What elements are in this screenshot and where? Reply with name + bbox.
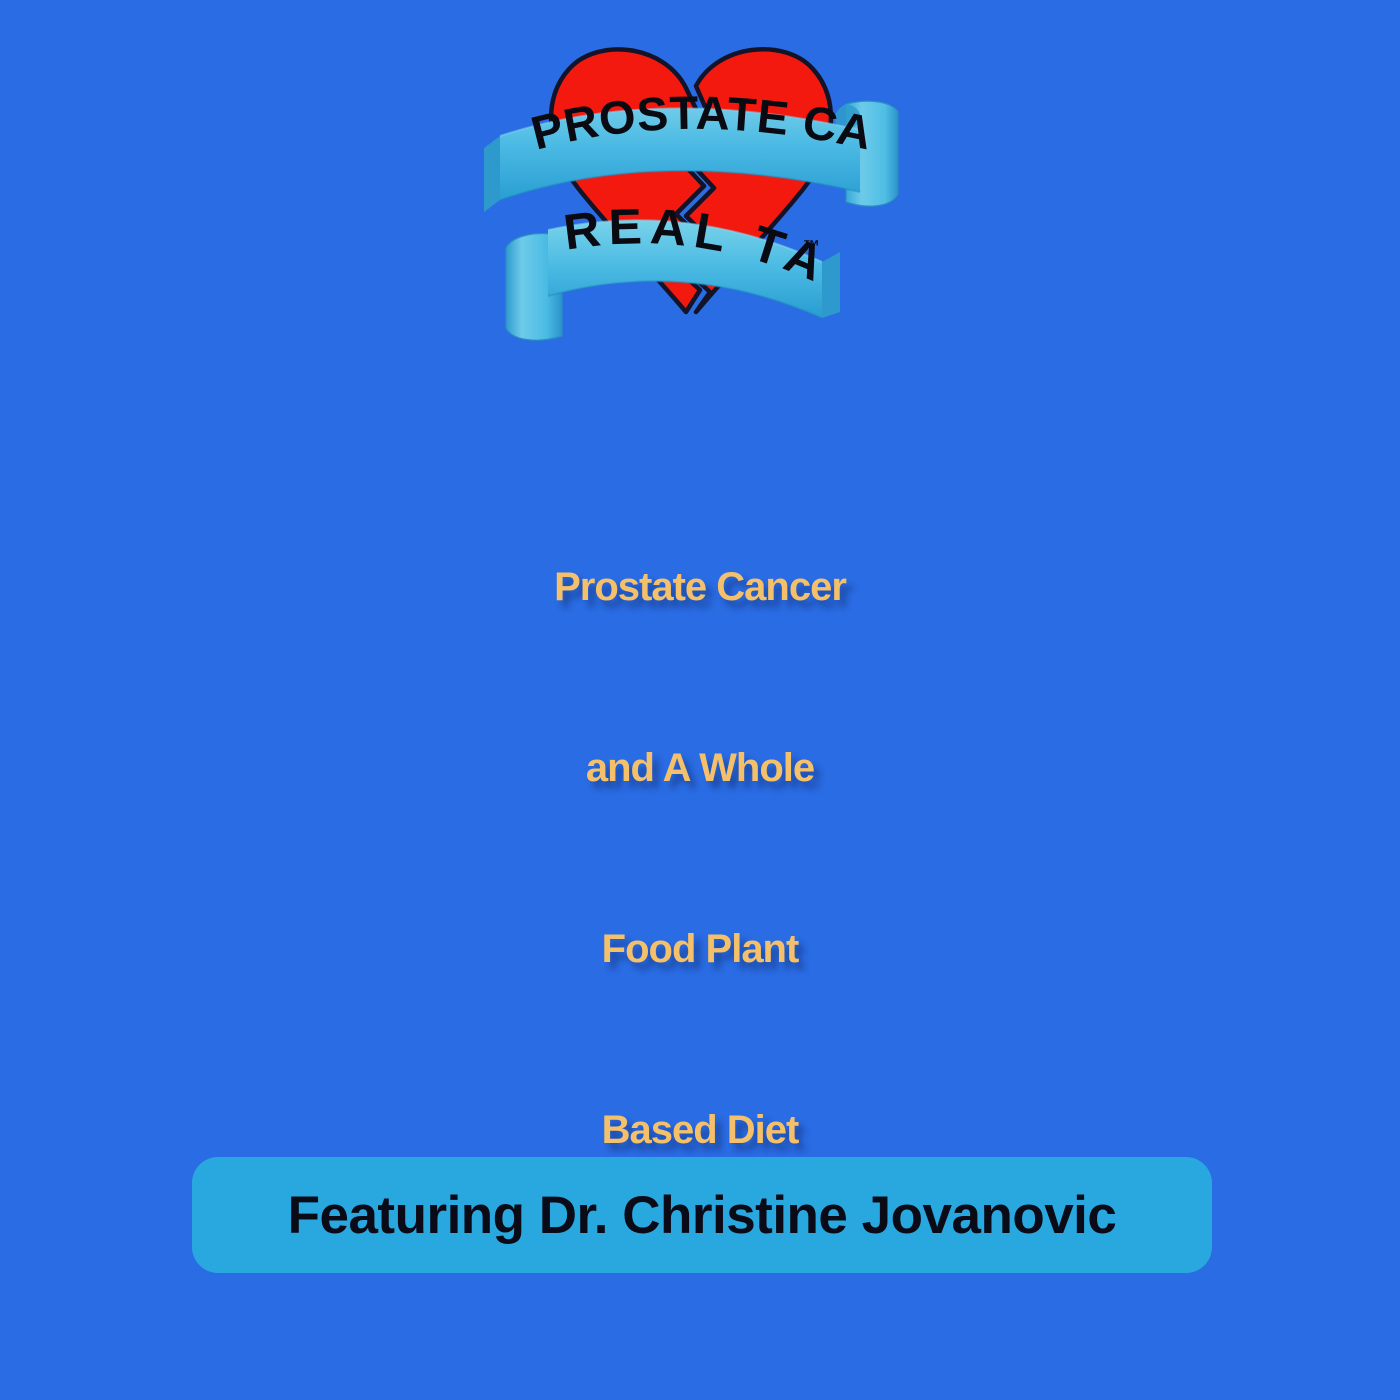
podcast-cover-art: PROSTATE CANCER REAL TALK ™ (0, 0, 1400, 1400)
title-line-3: Food Plant (0, 859, 1400, 1040)
trademark-symbol: ™ (803, 237, 820, 256)
featured-guest-label: Featuring Dr. Christine Jovanovic (288, 1189, 1117, 1242)
title-line-1: Prostate Cancer (0, 497, 1400, 678)
prostate-cancer-real-talk-logo: PROSTATE CANCER REAL TALK ™ (478, 30, 922, 350)
title-line-2: and A Whole (0, 678, 1400, 859)
featured-guest-banner: Featuring Dr. Christine Jovanovic (192, 1157, 1212, 1273)
page-title: Prostate Cancer and A Whole Food Plant B… (0, 497, 1400, 1221)
